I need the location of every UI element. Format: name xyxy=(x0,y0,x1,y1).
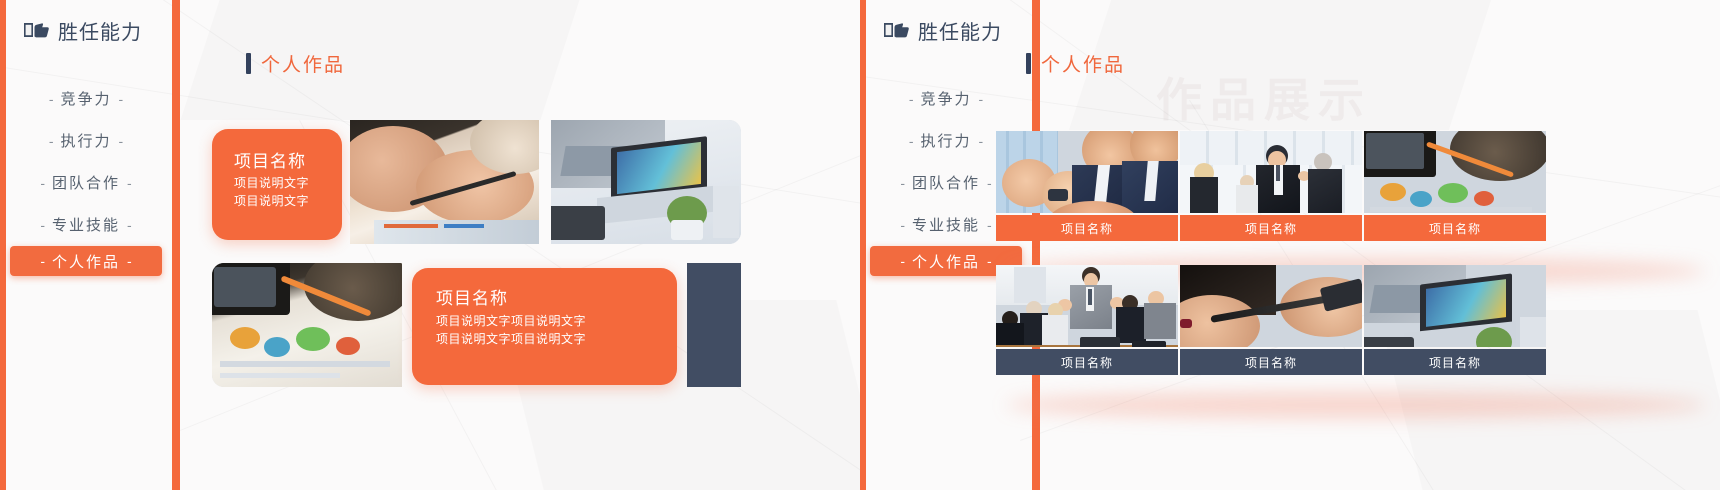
dash-left: - xyxy=(902,91,921,107)
photo-charts-tablet xyxy=(1364,131,1546,213)
photo-charts-tablet xyxy=(212,263,402,387)
heading-marker xyxy=(246,53,251,74)
thumbs-up-icon xyxy=(24,19,50,43)
sidebar-item-label: 团队合作 xyxy=(912,172,980,193)
sidebar-left: 胜任能力 - 竞争力 - - 执行力 - - 团队合作 - xyxy=(0,0,172,490)
tile-caption-text: 项目名称 xyxy=(1429,354,1481,371)
tile-caption: 项目名称 xyxy=(1364,215,1546,241)
project-card-desc-2: 项目说明文字项目说明文字 xyxy=(436,330,586,348)
photo-meeting-presenter xyxy=(996,265,1178,347)
slide-right: 胜任能力 - 竞争力 - - 执行力 - - 团队合作 - xyxy=(860,0,1720,490)
project-card-small[interactable]: 项目名称 项目说明文字 项目说明文字 xyxy=(212,129,342,240)
tile-caption-text: 项目名称 xyxy=(1061,354,1113,371)
photo-pen-handover xyxy=(1180,265,1362,347)
tile-caption-text: 项目名称 xyxy=(1061,220,1113,237)
watermark-text: 作品展示 xyxy=(1156,64,1372,130)
dash-left: - xyxy=(893,175,912,191)
photo-handshake-pens xyxy=(350,120,539,244)
dash-right: - xyxy=(112,133,131,149)
dash-left: - xyxy=(42,133,61,149)
navy-accent-block xyxy=(687,263,741,387)
dash-right: - xyxy=(120,175,139,191)
gallery-tile[interactable]: 项目名称 xyxy=(1364,265,1546,375)
brand-title: 胜任能力 xyxy=(918,16,1002,45)
tile-caption-text: 项目名称 xyxy=(1245,354,1297,371)
content-heading-left: 个人作品 xyxy=(246,50,345,77)
sidebar-right: 胜任能力 - 竞争力 - - 执行力 - - 团队合作 - xyxy=(860,0,1032,490)
photo-laptop-desk xyxy=(551,120,741,244)
sidebar-item-competitiveness[interactable]: - 竞争力 - xyxy=(860,78,1032,119)
dash-right: - xyxy=(120,217,139,233)
project-card-title: 项目名称 xyxy=(436,284,508,309)
gallery-tile[interactable]: 项目名称 xyxy=(996,265,1178,375)
brand: 胜任能力 xyxy=(884,16,1002,45)
sidebar-item-label: 个人作品 xyxy=(912,251,980,272)
slide-left: 胜任能力 - 竞争力 - - 执行力 - - 团队合作 - xyxy=(0,0,860,490)
sidebar-nav-left: - 竞争力 - - 执行力 - - 团队合作 - - 专业技能 - xyxy=(0,78,172,276)
tile-caption: 项目名称 xyxy=(1180,349,1362,375)
dash-left: - xyxy=(33,217,52,233)
tile-caption: 项目名称 xyxy=(1364,349,1546,375)
gallery-tile[interactable]: 项目名称 xyxy=(996,131,1178,241)
brand: 胜任能力 xyxy=(24,16,142,45)
sidebar-item-label: 竞争力 xyxy=(60,88,111,109)
sidebar-item-competitiveness[interactable]: - 竞争力 - xyxy=(0,78,172,119)
project-card-desc-1: 项目说明文字项目说明文字 xyxy=(436,312,586,330)
dash-left: - xyxy=(33,175,52,191)
photo-lobby-phone xyxy=(1180,131,1362,213)
tile-caption-text: 项目名称 xyxy=(1429,220,1481,237)
gallery-tile[interactable]: 项目名称 xyxy=(1180,265,1362,375)
gallery-tile[interactable]: 项目名称 xyxy=(1364,131,1546,241)
page-title: 个人作品 xyxy=(1041,50,1125,77)
project-card-wide[interactable]: 项目名称 项目说明文字项目说明文字 项目说明文字项目说明文字 xyxy=(412,268,677,385)
page-title: 个人作品 xyxy=(261,50,345,77)
gallery-tile[interactable]: 项目名称 xyxy=(1180,131,1362,241)
dash-left: - xyxy=(42,91,61,107)
sidebar-item-label: 团队合作 xyxy=(52,172,120,193)
dash-right: - xyxy=(112,91,131,107)
content-heading-right: 个人作品 xyxy=(1026,50,1125,77)
presentation-stage: 胜任能力 - 竞争力 - - 执行力 - - 团队合作 - xyxy=(0,0,1720,490)
sidebar-item-teamwork[interactable]: - 团队合作 - xyxy=(0,162,172,203)
project-card-desc-2: 项目说明文字 xyxy=(234,192,309,210)
thumbs-up-icon xyxy=(884,19,910,43)
sidebar-item-skills[interactable]: - 专业技能 - xyxy=(0,204,172,245)
project-card-desc-1: 项目说明文字 xyxy=(234,174,309,192)
sidebar-item-label: 个人作品 xyxy=(52,251,120,272)
dash-left: - xyxy=(33,253,52,269)
tile-caption-text: 项目名称 xyxy=(1245,220,1297,237)
sidebar-divider-left xyxy=(172,0,180,490)
project-card-title: 项目名称 xyxy=(234,147,306,172)
dash-right: - xyxy=(120,253,139,269)
dash-left: - xyxy=(902,133,921,149)
dash-left: - xyxy=(893,217,912,233)
sidebar-item-label: 专业技能 xyxy=(912,214,980,235)
sidebar-item-label: 竞争力 xyxy=(920,88,971,109)
brand-title: 胜任能力 xyxy=(58,16,142,45)
photo-laptop-charts xyxy=(1364,265,1546,347)
sidebar-item-label: 执行力 xyxy=(60,130,111,151)
row-glow-bottom xyxy=(1006,392,1706,418)
dash-right: - xyxy=(972,91,991,107)
tile-caption: 项目名称 xyxy=(996,215,1178,241)
sidebar-item-execution[interactable]: - 执行力 - xyxy=(0,120,172,161)
sidebar-item-label: 执行力 xyxy=(920,130,971,151)
dash-left: - xyxy=(893,253,912,269)
tile-caption: 项目名称 xyxy=(1180,215,1362,241)
tile-caption: 项目名称 xyxy=(996,349,1178,375)
photo-applause xyxy=(996,131,1178,213)
sidebar-item-label: 专业技能 xyxy=(52,214,120,235)
sidebar-item-portfolio[interactable]: - 个人作品 - xyxy=(10,246,162,276)
heading-marker xyxy=(1026,53,1031,74)
dash-right: - xyxy=(972,133,991,149)
